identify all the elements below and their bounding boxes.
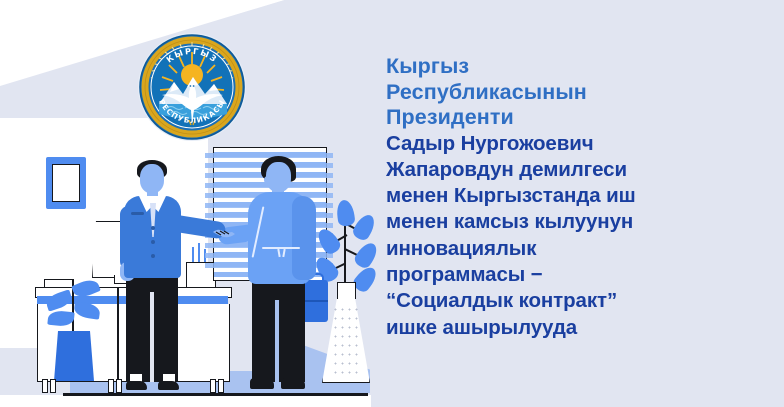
- body-line-5: инновациялык: [386, 236, 756, 262]
- desk-divider: [117, 287, 119, 381]
- body-line-6: программасы −: [386, 262, 756, 288]
- desk-leg: [108, 379, 114, 393]
- person-right-ear: [264, 176, 271, 184]
- desk-leg: [42, 379, 48, 393]
- person-left-shoe: [158, 381, 179, 390]
- body-line-2: Жапаровдун демилгеси: [386, 157, 756, 183]
- poster-banner: КЫРГЫЗ РЕСПУБЛИКАСЫ: [0, 0, 784, 407]
- body-line-7: “Социалдык контракт”: [386, 288, 756, 314]
- body-line-4: менен камсыз кылуунун: [386, 209, 756, 235]
- person-right-shoe: [250, 378, 274, 389]
- person-left-shirt-pocket: [131, 212, 144, 215]
- person-right-shoulder: [292, 196, 316, 280]
- picture-frame-inner: [52, 164, 80, 202]
- heading-line-1: Кыргыз: [386, 54, 756, 80]
- pencil: [192, 247, 194, 263]
- person-left-leg-split: [150, 292, 154, 382]
- handshake-icon: [212, 226, 236, 241]
- heading-line-2: Республикасынын: [386, 80, 756, 106]
- body-line-1: Садыр Нургожоевич: [386, 131, 756, 157]
- pencil-cup: [186, 262, 216, 290]
- floor-line: [63, 393, 368, 396]
- person-right-leg-split: [275, 300, 279, 382]
- person-left-shirt-button: [151, 254, 155, 258]
- person-left-shirt-button: [151, 226, 155, 230]
- pencil: [198, 243, 200, 263]
- person-right-shoe: [281, 378, 305, 389]
- pencil: [204, 249, 206, 263]
- vase-texture: [332, 305, 360, 375]
- body-line-8: ишке ашырылууда: [386, 315, 756, 341]
- text-panel: Кыргыз Республикасынын Президенти Садыр …: [386, 54, 756, 341]
- vase-neck: [337, 282, 356, 299]
- person-left-shirt-button: [151, 240, 155, 244]
- desk-leg: [116, 379, 122, 393]
- desk-leg: [210, 379, 216, 393]
- person-left-shoe: [126, 381, 147, 390]
- desk-leg: [50, 379, 56, 393]
- desk-leg: [218, 379, 224, 393]
- bottom-white-strip: [0, 395, 371, 407]
- heading-line-3: Президенти: [386, 105, 756, 131]
- wall-picture-frame: [46, 157, 86, 209]
- coat-of-arms-icon: КЫРГЫЗ РЕСПУБЛИКАСЫ: [137, 32, 247, 142]
- plant-pot: [54, 331, 94, 381]
- body-line-3: менен Кыргызстанда иш: [386, 183, 756, 209]
